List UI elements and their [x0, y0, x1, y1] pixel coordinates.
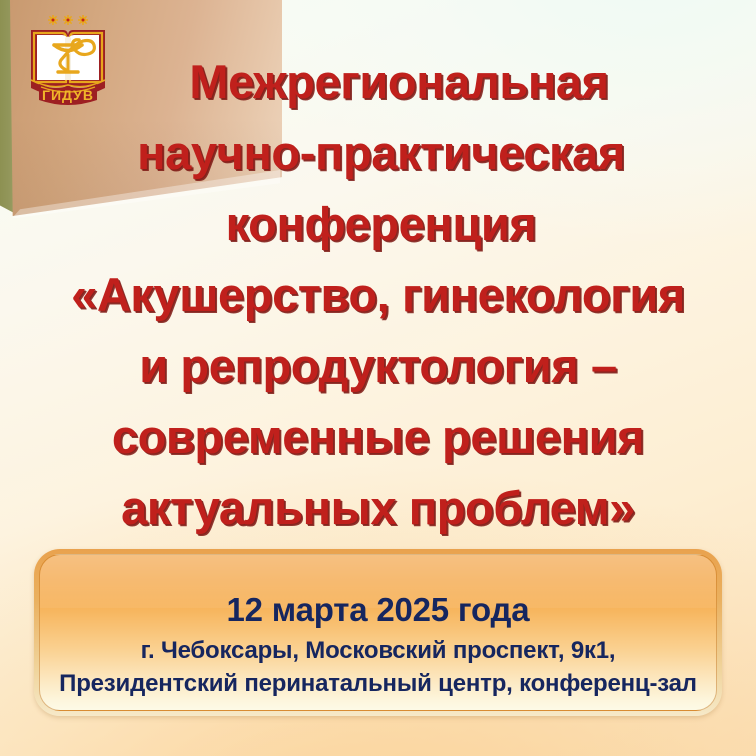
event-venue-line-2: Президентский перинатальный центр, конфе…: [59, 667, 697, 700]
title-line-4: «Акушерство, гинекология: [6, 259, 750, 330]
event-details-banner: 12 марта 2025 года г. Чебоксары, Московс…: [34, 549, 722, 716]
title-line-6: современные решения: [6, 401, 750, 472]
title-line-5: и репродуктология –: [6, 330, 750, 401]
event-date: 12 марта 2025 года: [227, 592, 530, 628]
conference-title: Межрегиональная научно-практическая конф…: [0, 46, 756, 543]
title-line-1: Межрегиональная: [6, 46, 750, 117]
event-details-banner-inner: 12 марта 2025 года г. Чебоксары, Московс…: [39, 554, 717, 711]
title-line-2: научно-практическая: [6, 117, 750, 188]
snake-head-dot: [77, 38, 80, 41]
conference-poster: ГИДУВ Межрегиональная научно-практическа…: [0, 0, 756, 756]
stars-icon: [48, 15, 88, 25]
title-line-3: конференция: [6, 188, 750, 259]
event-venue-line-1: г. Чебоксары, Московский проспект, 9к1,: [141, 634, 616, 667]
title-line-7: актуальных проблем»: [6, 472, 750, 543]
